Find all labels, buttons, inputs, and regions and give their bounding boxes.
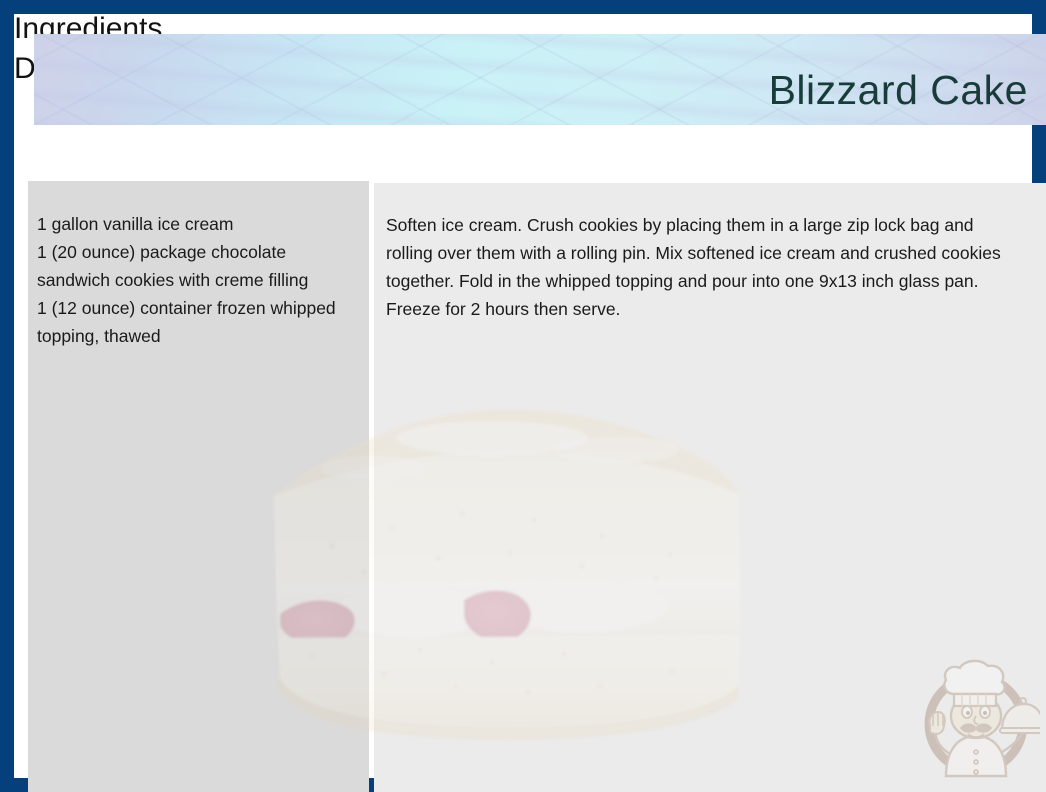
- directions-text: Soften ice cream. Crush cookies by placi…: [374, 183, 1046, 323]
- ingredients-list: 1 gallon vanilla ice cream 1 (20 ounce) …: [28, 181, 369, 350]
- page-surface: Blizzard Cake Ingredients 1 gallon vanil…: [14, 14, 1032, 778]
- title-banner: Blizzard Cake: [34, 34, 1046, 125]
- page-title: Blizzard Cake: [769, 67, 1028, 114]
- recipe-card: Blizzard Cake Ingredients 1 gallon vanil…: [0, 0, 1046, 792]
- ingredients-panel: 1 gallon vanilla ice cream 1 (20 ounce) …: [28, 181, 369, 792]
- directions-panel: Soften ice cream. Crush cookies by placi…: [374, 183, 1046, 792]
